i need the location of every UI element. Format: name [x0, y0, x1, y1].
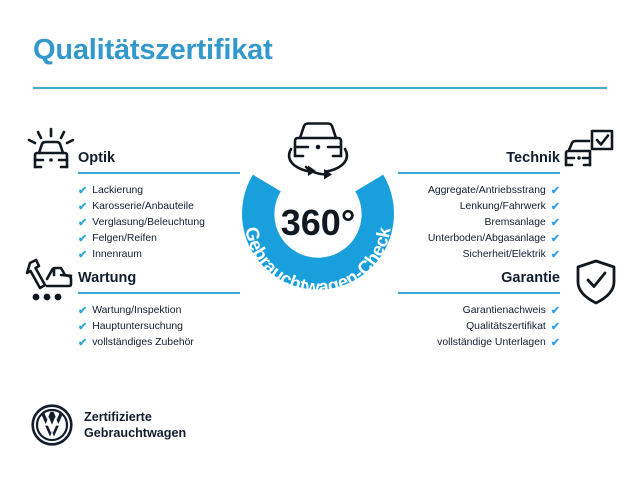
checklist-wartung: ✔Wartung/Inspektion ✔Hauptuntersuchung ✔…: [78, 303, 240, 351]
section-divider-optik: [78, 172, 240, 174]
car-checklist-icon: [564, 127, 616, 175]
list-item: ✔Verglasung/Beleuchtung: [78, 215, 240, 231]
list-item-label: Bremsanlage: [485, 215, 546, 231]
list-item: ✔Garantienachweis: [398, 303, 560, 319]
section-garantie: Garantie ✔Garantienachweis ✔Qualitätszer…: [398, 250, 560, 351]
vw-footer-line1: Zertifizierte: [84, 409, 186, 425]
list-item-label: Karosserie/Anbauteile: [92, 199, 194, 215]
list-item: ✔Karosserie/Anbauteile: [78, 199, 240, 215]
list-item-label: Wartung/Inspektion: [92, 303, 181, 319]
qualitaetszertifikat-page: Qualitätszertifikat: [0, 0, 640, 480]
list-item: ✔vollständiges Zubehör: [78, 335, 240, 351]
check-icon: ✔: [78, 202, 87, 213]
section-title-technik: Technik: [506, 150, 560, 166]
list-item: ✔Hauptuntersuchung: [78, 319, 240, 335]
section-title-wartung: Wartung: [78, 270, 136, 286]
list-item: ✔Unterboden/Abgasanlage: [398, 231, 560, 247]
section-header-optik: Optik: [78, 130, 240, 174]
list-item: ✔Wartung/Inspektion: [78, 303, 240, 319]
list-item: ✔Qualitätszertifikat: [398, 319, 560, 335]
section-title-garantie: Garantie: [501, 270, 560, 286]
vw-footer: Zertifizierte Gebrauchtwagen: [31, 404, 186, 446]
list-item: ✔vollständige Unterlagen: [398, 335, 560, 351]
list-item: ✔Aggregate/Antriebsstrang: [398, 183, 560, 199]
check-icon: ✔: [551, 202, 560, 213]
vw-logo-icon: [31, 404, 73, 446]
vw-footer-line2: Gebrauchtwagen: [84, 425, 186, 441]
list-item-label: Lenkung/Fahrwerk: [460, 199, 546, 215]
section-wartung: Wartung ✔Wartung/Inspektion ✔Hauptunters…: [78, 250, 240, 351]
section-divider-garantie: [398, 292, 560, 294]
section-divider-technik: [398, 172, 560, 174]
badge-360-gebrauchtwagen-check: Gebrauchtwagen-Check: [232, 112, 404, 308]
list-item-label: vollständige Unterlagen: [437, 335, 546, 351]
vw-footer-text: Zertifizierte Gebrauchtwagen: [84, 409, 186, 441]
header-divider: [33, 87, 607, 89]
list-item-label: Garantienachweis: [463, 303, 546, 319]
badge-center-label: 360°: [281, 202, 355, 243]
list-item-label: Verglasung/Beleuchtung: [92, 215, 205, 231]
check-icon: ✔: [78, 338, 87, 349]
section-header-technik: Technik: [398, 130, 560, 174]
check-icon: ✔: [551, 322, 560, 333]
list-item: ✔Felgen/Reifen: [78, 231, 240, 247]
list-item-label: Hauptuntersuchung: [92, 319, 183, 335]
list-item: ✔Bremsanlage: [398, 215, 560, 231]
shield-check-icon: [570, 258, 622, 306]
page-title: Qualitätszertifikat: [33, 34, 273, 67]
list-item-label: Felgen/Reifen: [92, 231, 157, 247]
list-item-label: Lackierung: [92, 183, 143, 199]
section-header-wartung: Wartung: [78, 250, 240, 294]
car-rotate-360-icon: [289, 124, 347, 180]
list-item: ✔Lenkung/Fahrwerk: [398, 199, 560, 215]
list-item-label: Unterboden/Abgasanlage: [428, 231, 546, 247]
check-icon: ✔: [551, 234, 560, 245]
list-item-label: Qualitätszertifikat: [466, 319, 546, 335]
checklist-garantie: ✔Garantienachweis ✔Qualitätszertifikat ✔…: [398, 303, 560, 351]
check-icon: ✔: [551, 218, 560, 229]
list-item-label: vollständiges Zubehör: [92, 335, 194, 351]
check-icon: ✔: [78, 234, 87, 245]
check-icon: ✔: [78, 186, 87, 197]
check-icon: ✔: [78, 322, 87, 333]
check-icon: ✔: [78, 306, 87, 317]
check-icon: ✔: [551, 186, 560, 197]
section-title-optik: Optik: [78, 150, 115, 166]
car-shine-icon: [25, 127, 77, 175]
wrench-car-icon: [23, 257, 75, 305]
check-icon: ✔: [78, 218, 87, 229]
list-item-label: Aggregate/Antriebsstrang: [428, 183, 546, 199]
section-divider-wartung: [78, 292, 240, 294]
check-icon: ✔: [551, 338, 560, 349]
section-header-garantie: Garantie: [398, 250, 560, 294]
list-item: ✔Lackierung: [78, 183, 240, 199]
check-icon: ✔: [551, 306, 560, 317]
section-optik: Optik ✔Lackierung ✔Karosserie/Anbauteile…: [78, 130, 240, 263]
section-technik: Technik ✔Aggregate/Antriebsstrang ✔Lenku…: [398, 130, 560, 263]
